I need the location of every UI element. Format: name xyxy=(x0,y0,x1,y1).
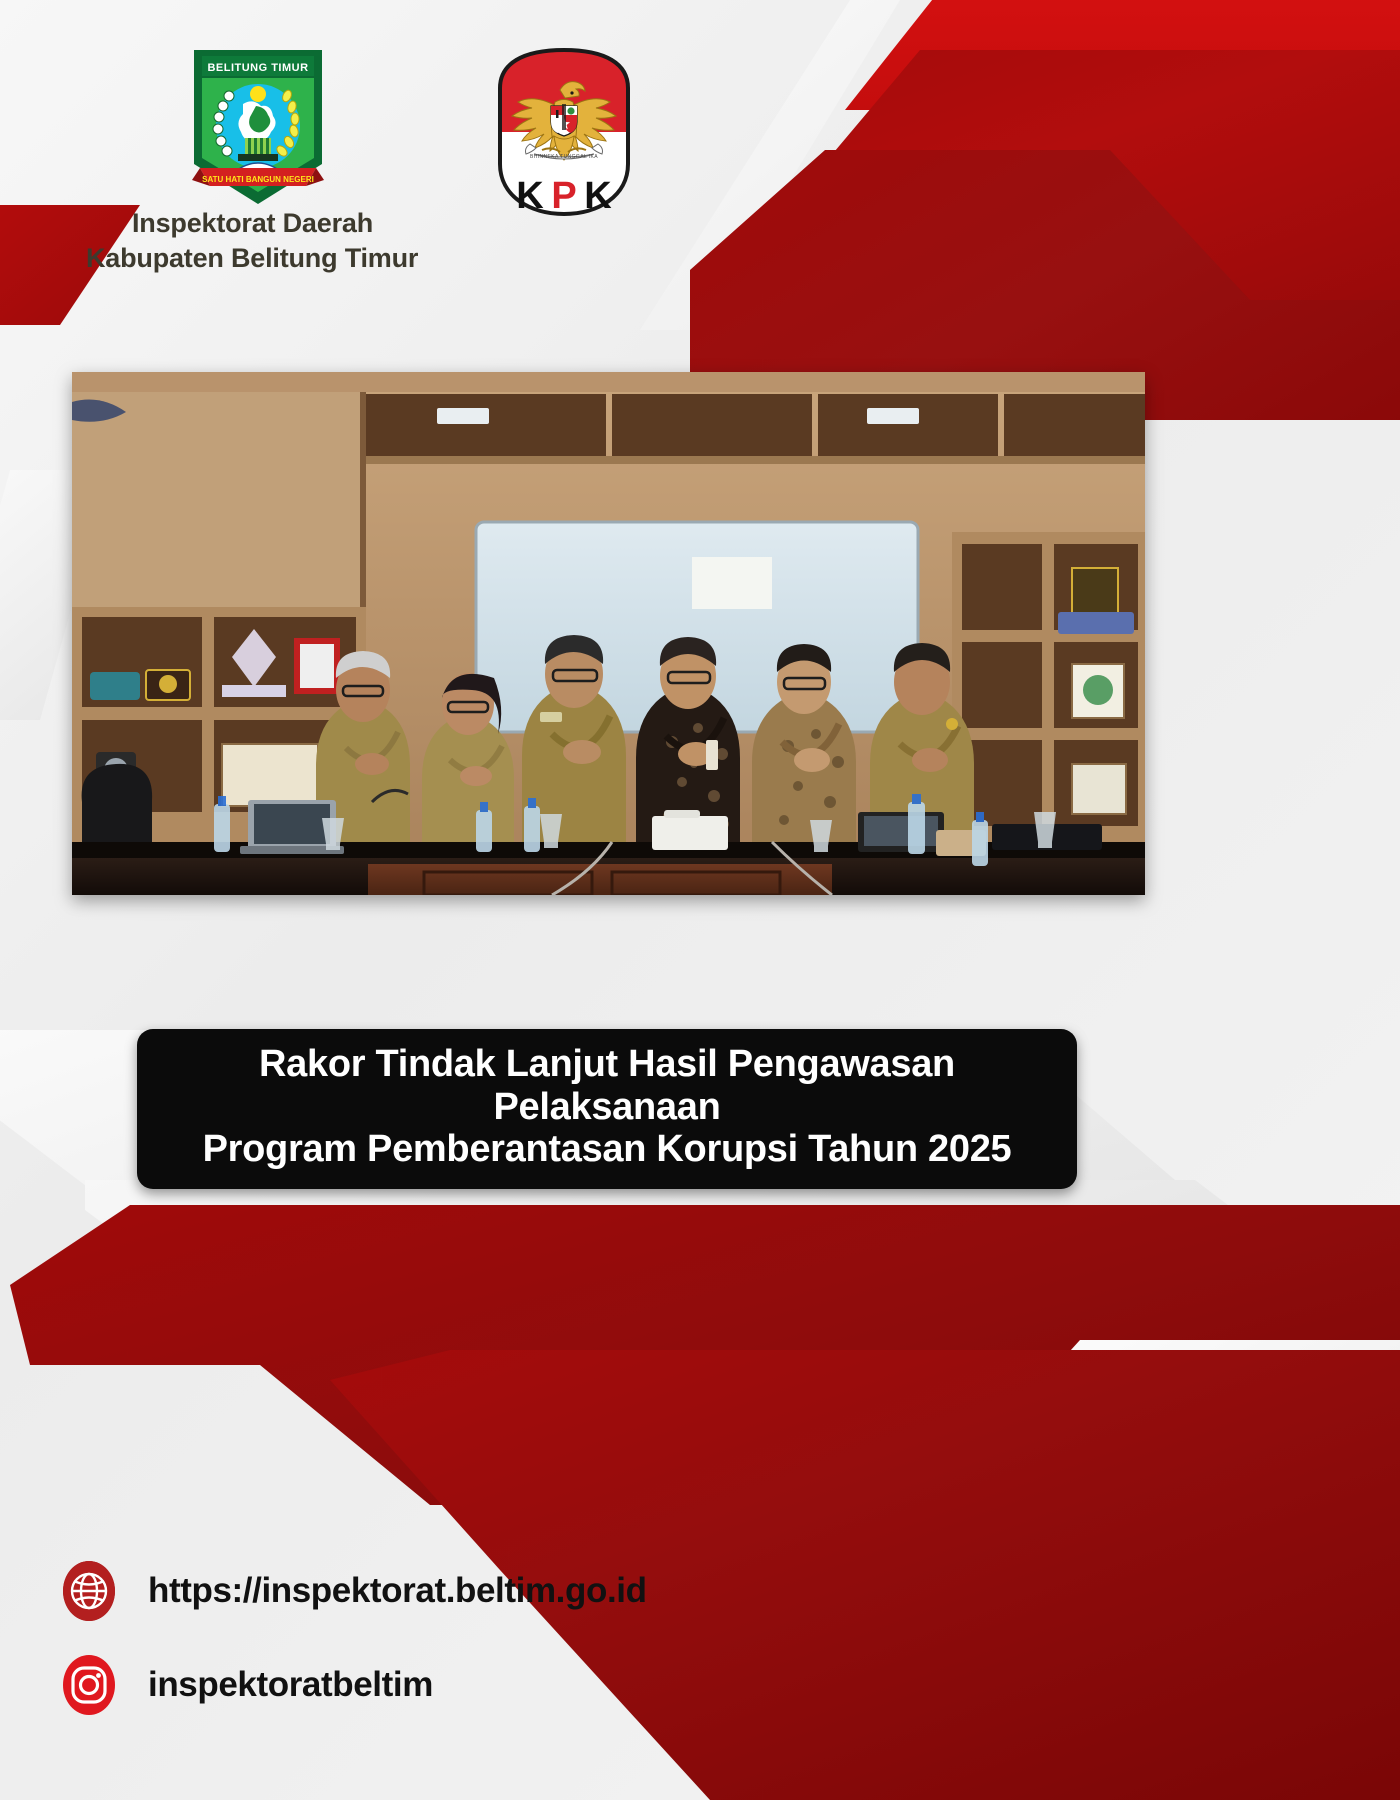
beltim-seal-banner: BELITUNG TIMUR xyxy=(207,62,308,74)
poster-canvas: BELITUNG TIMUR xyxy=(0,0,1400,1800)
instagram-handle[interactable]: inspektoratbeltim xyxy=(148,1665,433,1705)
footer-item-instagram[interactable]: inspektoratbeltim xyxy=(60,1654,820,1716)
org-title-line-2: Kabupaten Belitung Timur xyxy=(80,241,600,276)
organization-title: Inspektorat Daerah Kabupaten Belitung Ti… xyxy=(80,206,600,275)
poster-footer: https://inspektorat.beltim.go.id inspekt… xyxy=(60,1560,820,1748)
beltim-seal-motto: SATU HATI BANGUN NEGERI xyxy=(202,175,314,184)
website-url[interactable]: https://inspektorat.beltim.go.id xyxy=(148,1571,647,1611)
event-photo-illustration xyxy=(72,372,1145,895)
event-photo xyxy=(72,372,1145,895)
globe-icon xyxy=(60,1560,118,1622)
caption-line-1: Rakor Tindak Lanjut Hasil Pengawasan Pel… xyxy=(163,1043,1051,1128)
caption-line-2: Program Pemberantasan Korupsi Tahun 2025 xyxy=(163,1128,1051,1171)
org-title-line-1: Inspektorat Daerah xyxy=(80,206,600,241)
poster-header: BELITUNG TIMUR xyxy=(0,0,760,300)
instagram-icon xyxy=(60,1654,118,1716)
garuda-motto-text: BHINNEKA TUNGGAL IKA xyxy=(530,154,598,160)
event-caption: Rakor Tindak Lanjut Hasil Pengawasan Pel… xyxy=(137,1029,1077,1189)
footer-item-website[interactable]: https://inspektorat.beltim.go.id xyxy=(60,1560,820,1622)
kpk-logo-icon: BHINNEKA TUNGGAL IKA K P K xyxy=(494,48,634,216)
beltim-seal-icon: BELITUNG TIMUR xyxy=(188,46,328,206)
